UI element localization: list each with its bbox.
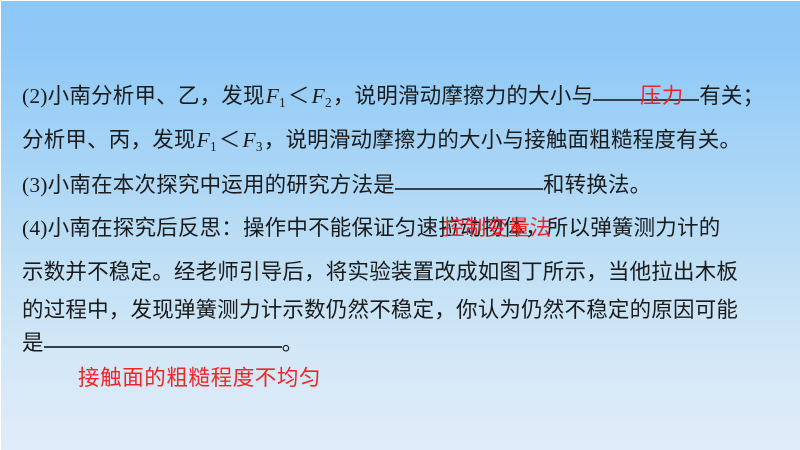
answer-annotation-q4: 接触面的粗糙程度不均匀	[78, 368, 321, 390]
question-2-text-a-tail: 有关；	[699, 84, 764, 108]
question-2-text-a-before: 小南分析甲、乙，发现	[48, 84, 265, 108]
question-3-text-after: 和转换法。	[543, 173, 652, 197]
question-4-blank-prefix: 是	[22, 331, 44, 355]
question-3-text-before: 小南在本次探究中运用的研究方法是	[48, 173, 395, 197]
answer-annotation-q2: 压力	[640, 86, 683, 108]
formula-f2-subscript: 2	[325, 95, 332, 110]
formula-f1b-base: F	[197, 128, 210, 152]
question-4-line-2: 示数并不稳定。经老师引导后，将实验装置改成如图丁所示，当他拉出木板	[22, 262, 788, 284]
answer-blank-q3[interactable]	[395, 188, 543, 190]
formula-f1b-subscript: 1	[210, 139, 217, 154]
question-4-line-3: 的过程中，发现弹簧测力计示数仍然不稳定，你认为仍然不稳定的原因可能	[22, 300, 788, 322]
question-2-text-b-before: 分析甲、丙，发现	[22, 128, 196, 152]
formula-f3-subscript: 3	[256, 139, 263, 154]
formula-f2-base: F	[312, 84, 325, 108]
formula-f1-subscript: 1	[279, 95, 286, 110]
slide-canvas: (2)小南分析甲、乙，发现F1＜F2，说明滑动摩擦力的大小与有关； 压力 分析甲…	[0, 0, 800, 450]
question-4-line-4: 是。	[22, 333, 788, 355]
question-4-line-1: (4)小南在探究后反思：操作中不能保证匀速拉动物体，所以弹簧测力计的	[22, 218, 788, 240]
question-2-number: (2)	[22, 84, 48, 108]
question-4-text-before: 小南在探究后反思：操作中不能保证匀速	[48, 216, 439, 240]
formula-f1-lt-f3: F1＜F3	[196, 128, 264, 152]
formula-f1-base: F	[266, 84, 279, 108]
question-2-line-2: 分析甲、丙，发现F1＜F3，说明滑动摩擦力的大小与接触面粗糙程度有关。	[22, 130, 788, 152]
formula-f3-base: F	[243, 128, 256, 152]
formula-f1-lt-f2: F1＜F2	[265, 84, 333, 108]
question-4-number: (4)	[22, 216, 48, 240]
answer-annotation-q3: 控制变量法	[443, 218, 552, 240]
question-3-number: (3)	[22, 173, 48, 197]
question-2-text-b-after: ，说明滑动摩擦力的大小与接触面粗糙程度有关。	[264, 128, 741, 152]
question-4-blank-suffix: 。	[282, 331, 304, 355]
less-than-operator-2: ＜	[217, 128, 243, 152]
less-than-operator: ＜	[286, 84, 312, 108]
question-3-line-1: (3)小南在本次探究中运用的研究方法是和转换法。	[22, 175, 788, 197]
answer-blank-q4[interactable]	[44, 346, 282, 348]
question-4-text-after: 所以弹簧测力计的	[547, 216, 721, 240]
question-2-text-a-after: ，说明滑动摩擦力的大小与	[333, 84, 593, 108]
